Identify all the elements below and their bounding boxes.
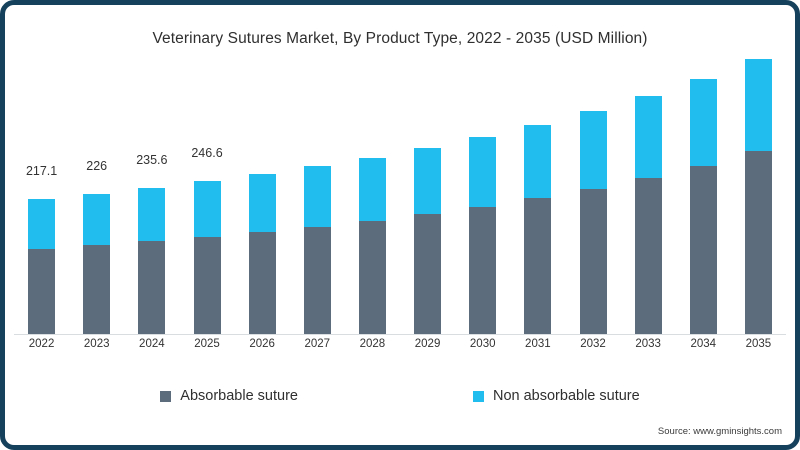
x-axis-tick-label: 2022 bbox=[14, 338, 69, 350]
bar-segment-non-absorbable[interactable] bbox=[580, 111, 607, 189]
bar-segment-non-absorbable[interactable] bbox=[359, 158, 386, 221]
x-axis-tick-label: 2023 bbox=[69, 338, 124, 350]
legend-swatch-icon bbox=[473, 391, 484, 402]
bar-segment-absorbable[interactable] bbox=[580, 189, 607, 334]
bar-value-label: 246.6 bbox=[179, 146, 236, 160]
bar-segment-absorbable[interactable] bbox=[83, 245, 110, 334]
bar-group[interactable] bbox=[249, 174, 276, 334]
bar-segment-absorbable[interactable] bbox=[469, 207, 496, 334]
bar-group[interactable] bbox=[28, 199, 55, 334]
bar-group[interactable] bbox=[359, 157, 386, 334]
bar-segment-non-absorbable[interactable] bbox=[635, 96, 662, 178]
legend-item-non-absorbable[interactable]: Non absorbable suture bbox=[473, 388, 640, 404]
bar-group[interactable] bbox=[83, 194, 110, 334]
bar-value-label: 217.1 bbox=[13, 164, 70, 178]
bar-group[interactable] bbox=[635, 96, 662, 334]
bar-group[interactable] bbox=[690, 79, 717, 334]
x-axis-tick-label: 2034 bbox=[676, 338, 731, 350]
bar-group[interactable] bbox=[580, 111, 607, 334]
x-axis-tick-label: 2029 bbox=[400, 338, 455, 350]
x-axis-tick-label: 2026 bbox=[235, 338, 290, 350]
bar-group[interactable] bbox=[414, 148, 441, 334]
bar-segment-absorbable[interactable] bbox=[524, 198, 551, 334]
bar-segment-non-absorbable[interactable] bbox=[304, 166, 331, 226]
bar-segment-non-absorbable[interactable] bbox=[524, 125, 551, 199]
chart-legend: Absorbable suture Non absorbable suture bbox=[0, 384, 800, 408]
x-axis-tick-label: 2024 bbox=[124, 338, 179, 350]
x-axis-tick-label: 2032 bbox=[565, 338, 620, 350]
legend-item-label: Non absorbable suture bbox=[493, 388, 640, 404]
x-axis-tick-label: 2030 bbox=[455, 338, 510, 350]
plot-area: 217.1226235.6246.6 bbox=[14, 60, 786, 335]
bar-group[interactable] bbox=[524, 125, 551, 334]
bar-segment-absorbable[interactable] bbox=[194, 237, 221, 334]
x-axis-tick-label: 2025 bbox=[179, 338, 234, 350]
bar-segment-absorbable[interactable] bbox=[249, 232, 276, 334]
bar-segment-absorbable[interactable] bbox=[635, 178, 662, 334]
bar-segment-non-absorbable[interactable] bbox=[414, 148, 441, 214]
bar-group[interactable] bbox=[194, 181, 221, 334]
legend-item-absorbable[interactable]: Absorbable suture bbox=[160, 388, 298, 404]
chart-title: Veterinary Sutures Market, By Product Ty… bbox=[0, 30, 800, 48]
bar-segment-non-absorbable[interactable] bbox=[690, 79, 717, 166]
x-axis-tick-label: 2035 bbox=[731, 338, 786, 350]
bar-segment-absorbable[interactable] bbox=[414, 214, 441, 334]
bar-value-label: 235.6 bbox=[123, 153, 180, 167]
bar-segment-absorbable[interactable] bbox=[359, 221, 386, 334]
bar-segment-non-absorbable[interactable] bbox=[745, 59, 772, 151]
bar-segment-non-absorbable[interactable] bbox=[469, 137, 496, 207]
source-attribution: Source: www.gminsights.com bbox=[658, 426, 782, 437]
x-axis-tick-label: 2028 bbox=[345, 338, 400, 350]
bar-segment-non-absorbable[interactable] bbox=[83, 194, 110, 245]
legend-item-label: Absorbable suture bbox=[180, 388, 298, 404]
bar-segment-absorbable[interactable] bbox=[745, 151, 772, 334]
chart-figure: Veterinary Sutures Market, By Product Ty… bbox=[0, 0, 800, 450]
bar-group[interactable] bbox=[304, 166, 331, 334]
bar-segment-absorbable[interactable] bbox=[304, 227, 331, 334]
x-axis-labels: 2022202320242025202620272028202920302031… bbox=[14, 338, 786, 360]
x-axis-tick-label: 2027 bbox=[290, 338, 345, 350]
bar-group[interactable] bbox=[469, 137, 496, 334]
bar-segment-non-absorbable[interactable] bbox=[28, 199, 55, 249]
bar-segment-absorbable[interactable] bbox=[138, 241, 165, 334]
legend-swatch-icon bbox=[160, 391, 171, 402]
x-axis-tick-label: 2033 bbox=[621, 338, 676, 350]
bar-value-label: 226 bbox=[68, 159, 125, 173]
x-axis-line bbox=[14, 334, 786, 335]
bar-segment-non-absorbable[interactable] bbox=[249, 174, 276, 232]
bar-group[interactable] bbox=[745, 59, 772, 334]
bar-segment-absorbable[interactable] bbox=[28, 249, 55, 334]
bar-segment-non-absorbable[interactable] bbox=[194, 181, 221, 237]
bar-group[interactable] bbox=[138, 188, 165, 334]
bar-segment-absorbable[interactable] bbox=[690, 166, 717, 334]
x-axis-tick-label: 2031 bbox=[510, 338, 565, 350]
bar-segment-non-absorbable[interactable] bbox=[138, 188, 165, 241]
